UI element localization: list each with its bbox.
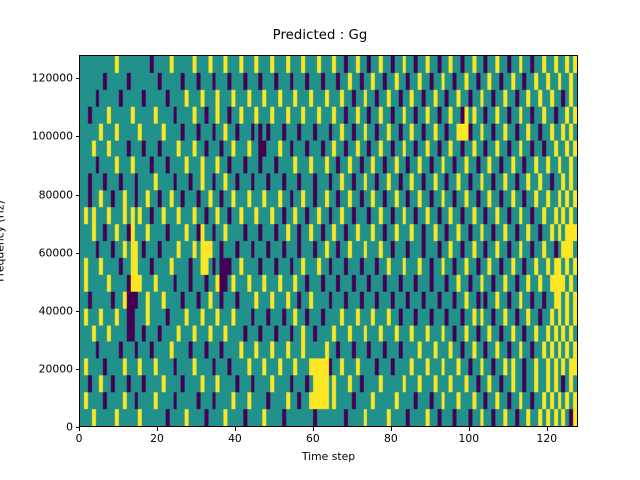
x-tick-label-0: 0 bbox=[76, 432, 83, 445]
y-tick-80000 bbox=[76, 195, 80, 196]
y-tick-0 bbox=[76, 427, 80, 428]
y-tick-label-20000: 20000 bbox=[39, 362, 73, 375]
matplotlib-figure: Predicted : Gg 020406080100120 020000400… bbox=[0, 0, 640, 480]
x-tick-120 bbox=[547, 427, 548, 431]
y-tick-label-0: 0 bbox=[66, 421, 73, 434]
x-tick-60 bbox=[313, 427, 314, 431]
y-tick-label-40000: 40000 bbox=[39, 304, 73, 317]
x-tick-20 bbox=[157, 427, 158, 431]
y-tick-60000 bbox=[76, 253, 80, 254]
x-tick-100 bbox=[469, 427, 470, 431]
y-tick-40000 bbox=[76, 311, 80, 312]
y-tick-label-120000: 120000 bbox=[32, 72, 73, 85]
y-tick-label-100000: 100000 bbox=[32, 130, 73, 143]
x-axis-label: Time step bbox=[79, 450, 578, 463]
x-tick-label-60: 60 bbox=[306, 432, 320, 445]
x-tick-label-100: 100 bbox=[459, 432, 480, 445]
heatmap-image bbox=[80, 56, 577, 426]
x-tick-40 bbox=[235, 427, 236, 431]
x-tick-0 bbox=[79, 427, 80, 431]
x-tick-label-80: 80 bbox=[384, 432, 398, 445]
y-tick-20000 bbox=[76, 369, 80, 370]
y-tick-100000 bbox=[76, 136, 80, 137]
x-tick-label-40: 40 bbox=[228, 432, 242, 445]
x-tick-80 bbox=[391, 427, 392, 431]
chart-title: Predicted : Gg bbox=[0, 28, 640, 43]
y-tick-label-60000: 60000 bbox=[39, 246, 73, 259]
x-tick-label-20: 20 bbox=[150, 432, 164, 445]
y-tick-label-80000: 80000 bbox=[39, 188, 73, 201]
x-tick-label-120: 120 bbox=[537, 432, 558, 445]
y-axis-label: Frequency (Hz) bbox=[0, 200, 7, 281]
heatmap-axes bbox=[79, 55, 578, 427]
y-tick-120000 bbox=[76, 78, 80, 79]
